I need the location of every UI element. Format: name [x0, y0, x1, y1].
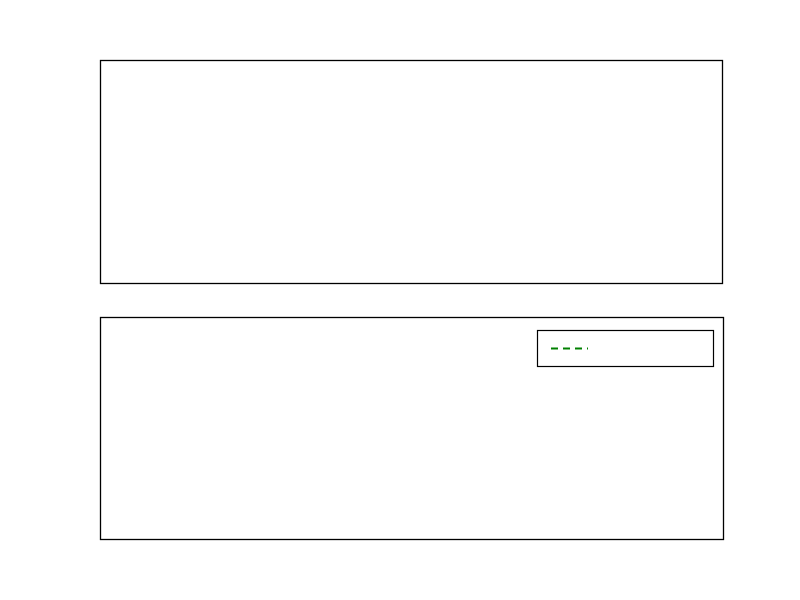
figure-canvas — [0, 0, 800, 600]
top-panel — [101, 61, 723, 284]
matplotlib-figure — [0, 0, 800, 600]
top-plot-frame — [101, 61, 723, 284]
legend[interactable] — [538, 331, 714, 367]
